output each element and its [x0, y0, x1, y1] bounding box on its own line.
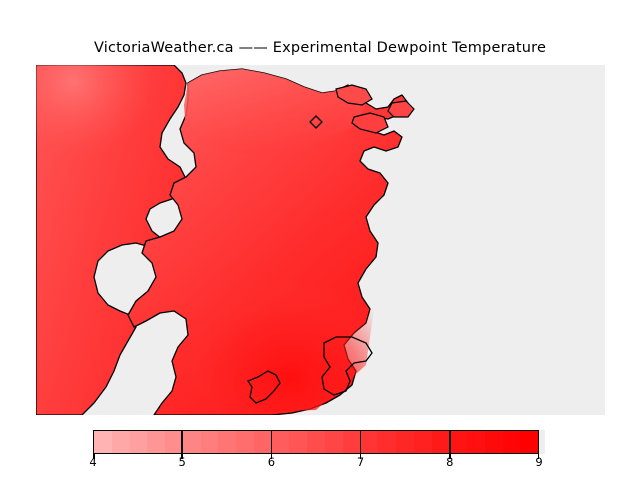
colorbar-swatch: [503, 431, 521, 453]
colorbar-tick-label: 8: [446, 455, 453, 469]
colorbar-swatch: [343, 431, 361, 453]
colorbar-tick-label: 5: [179, 455, 186, 469]
colorbar-swatch: [94, 431, 112, 453]
colorbar-container[interactable]: [93, 430, 545, 454]
colorbar-division: [271, 430, 273, 454]
colorbar-swatch: [432, 431, 450, 453]
colorbar-swatch: [360, 431, 378, 453]
colorbar-swatch: [201, 431, 219, 453]
colorbar[interactable]: [93, 430, 539, 454]
map-svg: [36, 65, 605, 415]
colorbar-swatch: [130, 431, 148, 453]
colorbar-swatch: [112, 431, 130, 453]
colorbar-swatch: [147, 431, 165, 453]
colorbar-swatch: [183, 431, 201, 453]
colorbar-swatch: [289, 431, 307, 453]
colorbar-tick-label: 9: [535, 455, 542, 469]
colorbar-swatch: [520, 431, 538, 453]
colorbar-swatch: [449, 431, 467, 453]
colorbar-swatch: [467, 431, 485, 453]
colorbar-swatch: [165, 431, 183, 453]
colorbar-tick-label: 7: [357, 455, 364, 469]
colorbar-swatch: [396, 431, 414, 453]
colorbar-overflow-gap: [539, 430, 545, 454]
colorbar-swatch: [485, 431, 503, 453]
colorbar-swatch: [325, 431, 343, 453]
colorbar-swatch: [414, 431, 432, 453]
colorbar-swatch: [272, 431, 290, 453]
colorbar-swatch: [307, 431, 325, 453]
colorbar-division: [181, 430, 183, 454]
colorbar-tick-label: 6: [268, 455, 275, 469]
colorbar-swatch: [236, 431, 254, 453]
page-title: VictoriaWeather.ca —— Experimental Dewpo…: [0, 40, 640, 56]
colorbar-division: [360, 430, 362, 454]
colorbar-swatch: [218, 431, 236, 453]
map-plot-area[interactable]: [36, 65, 605, 415]
colorbar-division: [449, 430, 451, 454]
colorbar-tick-label: 4: [89, 455, 96, 469]
colorbar-swatch: [254, 431, 272, 453]
colorbar-swatch: [378, 431, 396, 453]
